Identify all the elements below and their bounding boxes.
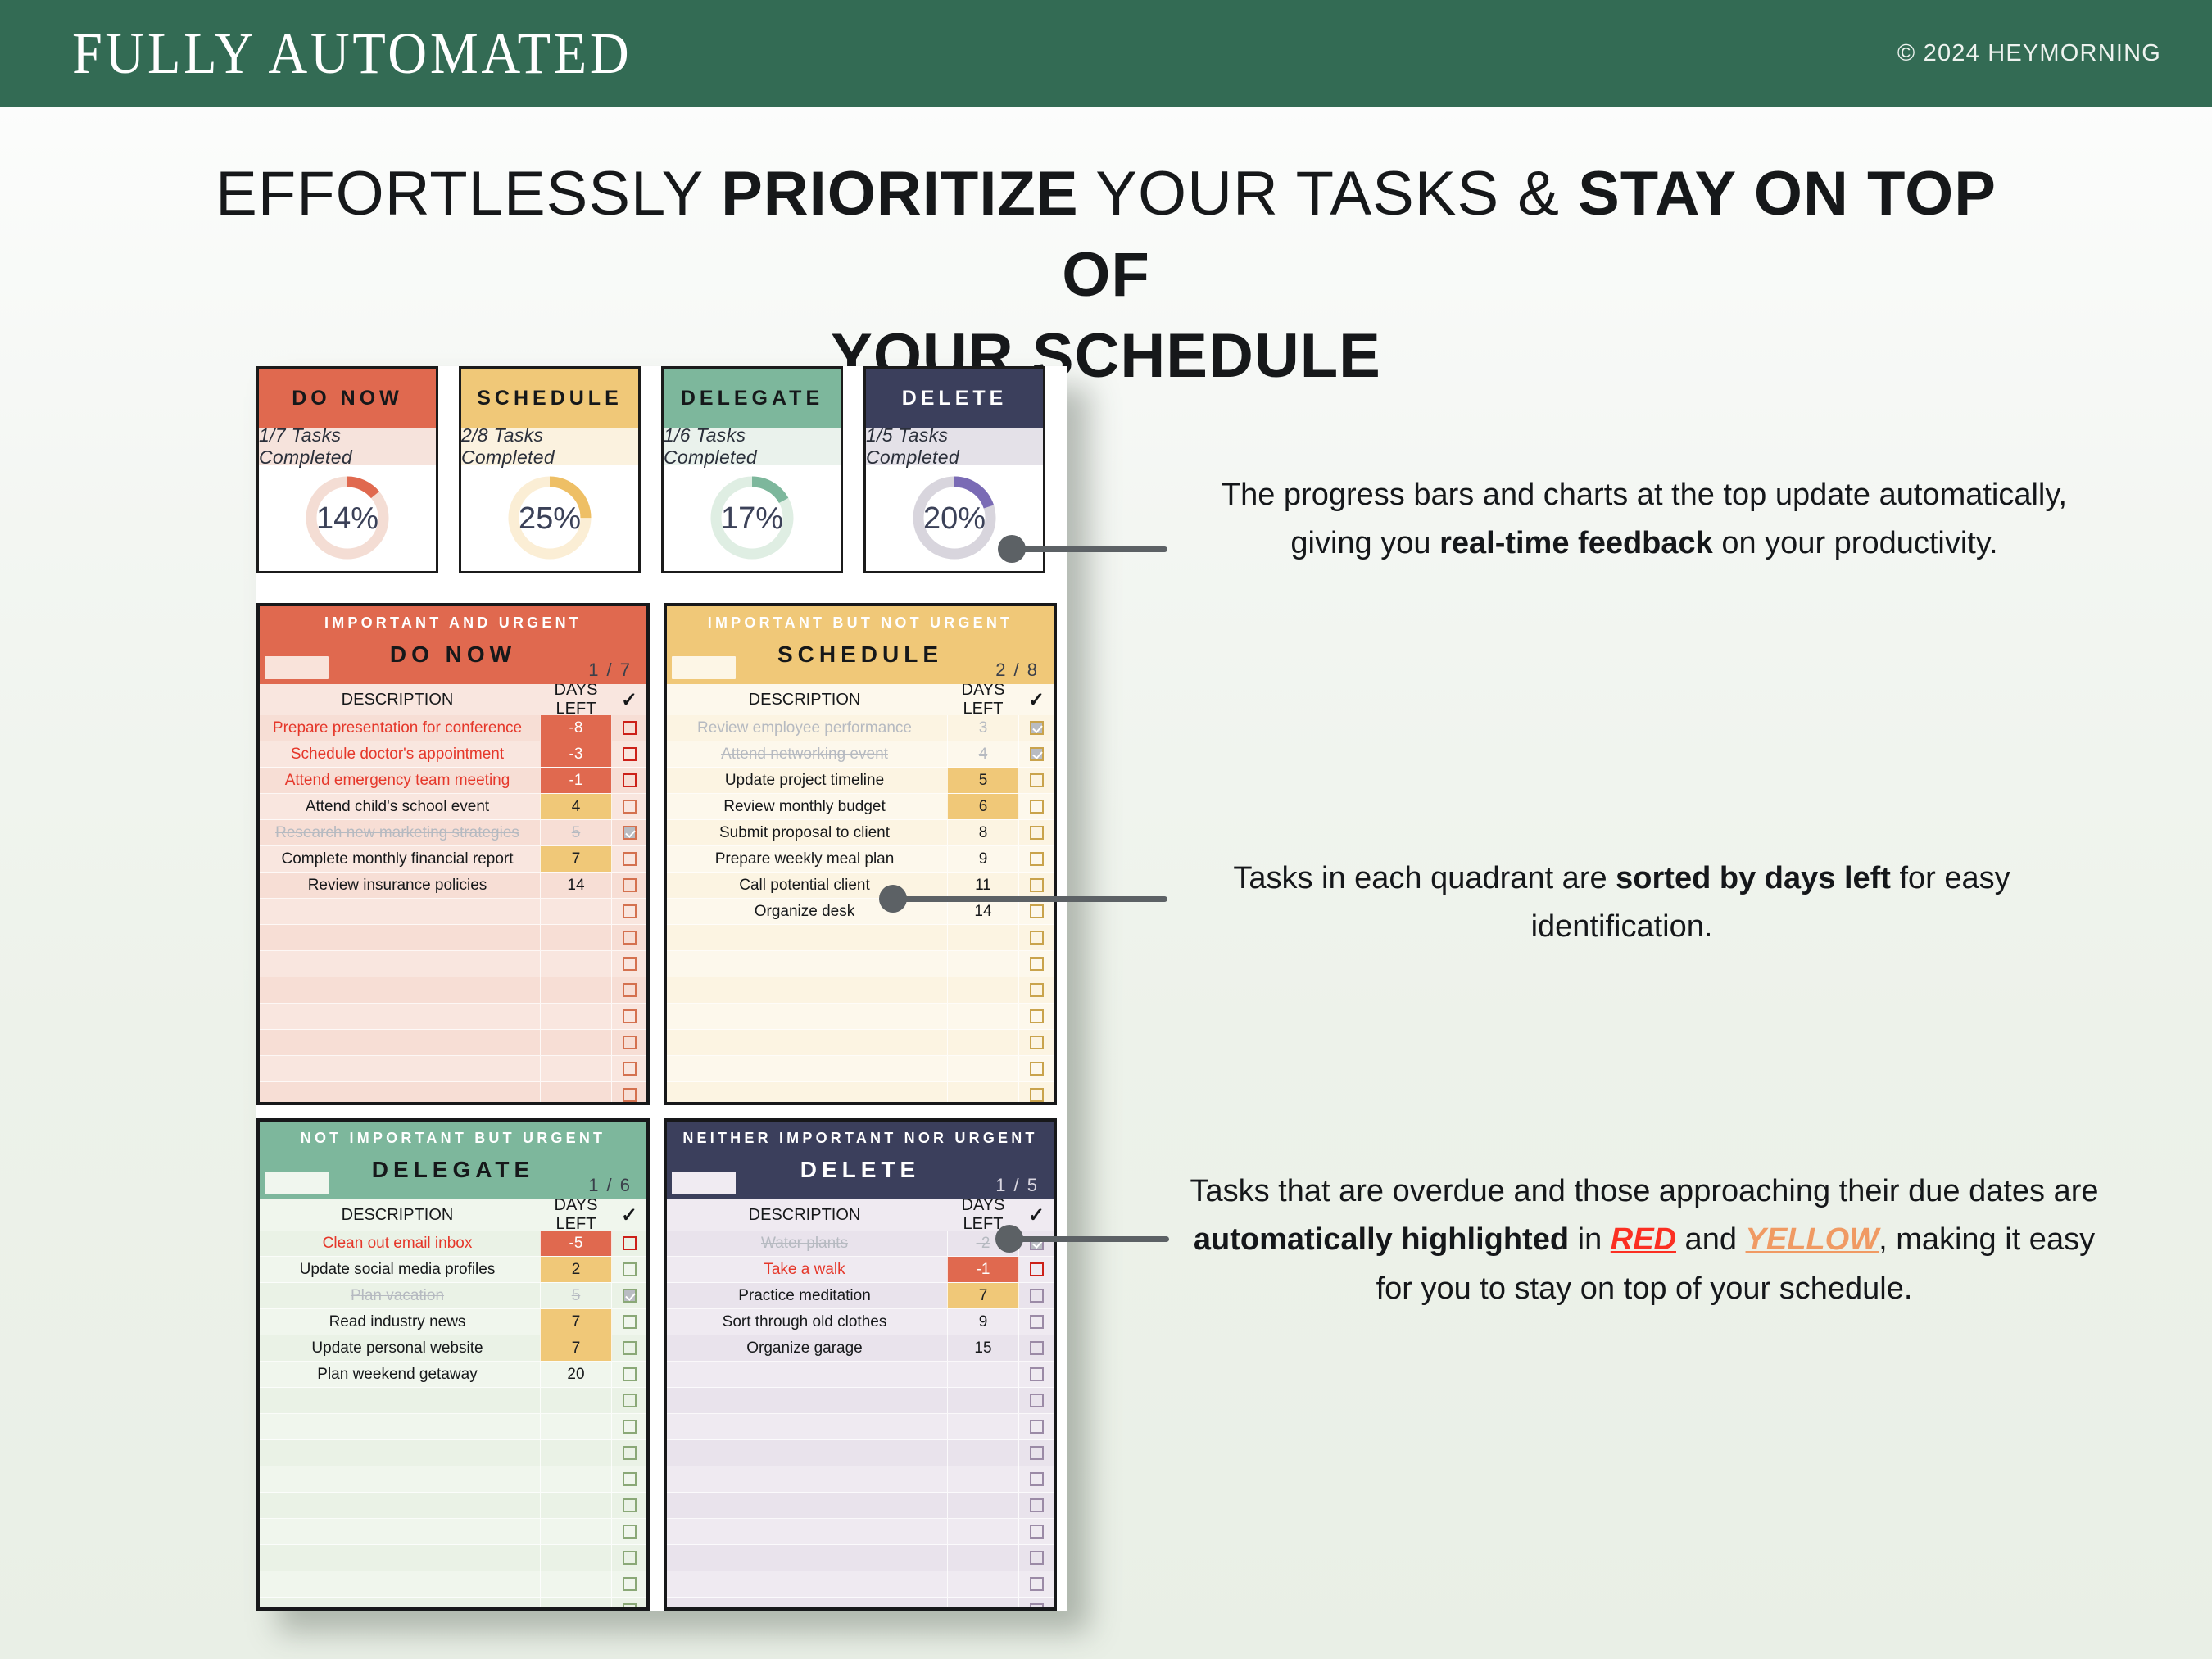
task-checkbox[interactable]: [1030, 1394, 1044, 1407]
task-description[interactable]: [260, 925, 540, 950]
task-description[interactable]: [667, 1004, 947, 1029]
task-checkbox[interactable]: [623, 983, 637, 997]
table-row[interactable]: [260, 1004, 646, 1030]
task-checkbox[interactable]: [1030, 983, 1044, 997]
table-row[interactable]: Review employee performance3: [667, 715, 1054, 741]
task-checkbox[interactable]: [1030, 1525, 1044, 1539]
task-description[interactable]: [667, 1545, 947, 1571]
task-description[interactable]: Prepare weekly meal plan: [667, 846, 947, 872]
task-checkbox-cell[interactable]: [1019, 1493, 1054, 1518]
table-row[interactable]: Attend child's school event4: [260, 794, 646, 820]
table-row[interactable]: Call potential client11: [667, 873, 1054, 899]
table-row[interactable]: [260, 925, 646, 951]
task-description[interactable]: Organize garage: [667, 1335, 947, 1361]
task-checkbox-cell[interactable]: [1019, 1414, 1054, 1439]
table-row[interactable]: [260, 899, 646, 925]
task-days-left[interactable]: [947, 1545, 1019, 1571]
task-checkbox-cell[interactable]: [1019, 1598, 1054, 1611]
task-days-left[interactable]: [947, 1082, 1019, 1105]
task-days-left[interactable]: 11: [947, 873, 1019, 898]
task-description[interactable]: Attend child's school event: [260, 794, 540, 819]
table-row[interactable]: [260, 1598, 646, 1611]
task-checkbox-cell[interactable]: [1019, 925, 1054, 950]
task-checkbox[interactable]: [623, 1367, 637, 1381]
task-description[interactable]: Update personal website: [260, 1335, 540, 1361]
table-row[interactable]: Plan vacation5: [260, 1283, 646, 1309]
task-checkbox[interactable]: [1030, 747, 1044, 761]
task-checkbox[interactable]: [623, 1577, 637, 1591]
table-row[interactable]: [260, 1082, 646, 1105]
task-days-left[interactable]: [540, 1388, 612, 1413]
task-checkbox[interactable]: [1030, 1062, 1044, 1076]
task-days-left[interactable]: [540, 1493, 612, 1518]
task-checkbox[interactable]: [1030, 1009, 1044, 1023]
task-checkbox-cell[interactable]: [1019, 873, 1054, 898]
task-checkbox-cell[interactable]: [612, 1362, 646, 1387]
task-checkbox[interactable]: [623, 1420, 637, 1434]
task-checkbox[interactable]: [1030, 1341, 1044, 1355]
summary-card-title: DELETE: [866, 369, 1043, 428]
task-checkbox[interactable]: [623, 904, 637, 918]
task-checkbox[interactable]: [623, 1394, 637, 1407]
table-row[interactable]: [260, 977, 646, 1004]
table-row[interactable]: [260, 1388, 646, 1414]
task-checkbox-cell[interactable]: [612, 715, 646, 741]
table-row[interactable]: Plan weekend getaway20: [260, 1362, 646, 1388]
task-checkbox[interactable]: [623, 1088, 637, 1102]
task-checkbox-cell[interactable]: [612, 1030, 646, 1055]
table-row[interactable]: Review monthly budget6: [667, 794, 1054, 820]
task-description[interactable]: [667, 951, 947, 977]
table-row[interactable]: Update project timeline5: [667, 768, 1054, 794]
task-days-left[interactable]: [540, 951, 612, 977]
task-checkbox[interactable]: [623, 747, 637, 761]
task-checkbox[interactable]: [623, 1009, 637, 1023]
table-row[interactable]: Complete monthly financial report7: [260, 846, 646, 873]
task-checkbox[interactable]: [1030, 904, 1044, 918]
task-days-left[interactable]: [947, 1030, 1019, 1055]
table-row[interactable]: Prepare presentation for conference-8: [260, 715, 646, 741]
task-description[interactable]: [260, 1056, 540, 1081]
task-days-left[interactable]: [947, 1440, 1019, 1466]
task-checkbox[interactable]: [1030, 773, 1044, 787]
task-days-left[interactable]: 8: [947, 820, 1019, 845]
task-description[interactable]: [667, 1519, 947, 1544]
task-description[interactable]: Prepare presentation for conference: [260, 715, 540, 741]
task-description[interactable]: Schedule doctor's appointment: [260, 741, 540, 767]
table-row[interactable]: [667, 951, 1054, 977]
task-checkbox[interactable]: [623, 1525, 637, 1539]
task-checkbox-cell[interactable]: [1019, 768, 1054, 793]
task-checkbox[interactable]: [623, 931, 637, 945]
task-checkbox-cell[interactable]: [1019, 951, 1054, 977]
task-checkbox-cell[interactable]: [1019, 1335, 1054, 1361]
task-description[interactable]: Plan weekend getaway: [260, 1362, 540, 1387]
task-days-left[interactable]: [540, 1440, 612, 1466]
task-description[interactable]: Clean out email inbox: [260, 1231, 540, 1256]
table-row[interactable]: [667, 1466, 1054, 1493]
task-description[interactable]: [667, 925, 947, 950]
task-days-left[interactable]: -5: [540, 1231, 612, 1256]
task-description[interactable]: Read industry news: [260, 1309, 540, 1335]
task-checkbox-cell[interactable]: [612, 1388, 646, 1413]
task-checkbox-cell[interactable]: [612, 1440, 646, 1466]
task-checkbox-cell[interactable]: [612, 1545, 646, 1571]
table-row[interactable]: [667, 1362, 1054, 1388]
task-checkbox-cell[interactable]: [612, 1056, 646, 1081]
table-row[interactable]: Research new marketing strategies5: [260, 820, 646, 846]
table-row[interactable]: Organize desk14: [667, 899, 1054, 925]
task-checkbox[interactable]: [1030, 1315, 1044, 1329]
task-days-left[interactable]: [947, 1598, 1019, 1611]
task-checkbox[interactable]: [1030, 957, 1044, 971]
task-description[interactable]: [667, 1082, 947, 1105]
table-row[interactable]: Sort through old clothes9: [667, 1309, 1054, 1335]
task-description[interactable]: [667, 1466, 947, 1492]
task-checkbox[interactable]: [1030, 1036, 1044, 1049]
table-row[interactable]: [260, 1030, 646, 1056]
task-checkbox-cell[interactable]: [1019, 1440, 1054, 1466]
task-checkbox-cell[interactable]: [1019, 1545, 1054, 1571]
task-description[interactable]: [260, 951, 540, 977]
table-row[interactable]: [260, 1414, 646, 1440]
table-row[interactable]: Attend emergency team meeting-1: [260, 768, 646, 794]
task-checkbox[interactable]: [1030, 1498, 1044, 1512]
table-row[interactable]: [260, 1493, 646, 1519]
task-days-left[interactable]: [540, 1466, 612, 1492]
task-checkbox-cell[interactable]: [612, 1519, 646, 1544]
task-checkbox-cell[interactable]: [1019, 1309, 1054, 1335]
task-checkbox-cell[interactable]: [612, 1004, 646, 1029]
task-days-left[interactable]: [947, 977, 1019, 1003]
task-days-left[interactable]: [540, 1519, 612, 1544]
task-description[interactable]: [667, 1056, 947, 1081]
task-checkbox-cell[interactable]: [1019, 1257, 1054, 1282]
table-row[interactable]: Prepare weekly meal plan9: [667, 846, 1054, 873]
task-description[interactable]: [667, 1571, 947, 1597]
task-checkbox[interactable]: [623, 1036, 637, 1049]
task-days-left[interactable]: 5: [540, 820, 612, 845]
table-row[interactable]: Practice meditation7: [667, 1283, 1054, 1309]
task-description[interactable]: [260, 1493, 540, 1518]
task-checkbox[interactable]: [623, 957, 637, 971]
task-checkbox-cell[interactable]: [1019, 1082, 1054, 1105]
task-days-left[interactable]: 9: [947, 846, 1019, 872]
task-checkbox[interactable]: [623, 1551, 637, 1565]
task-description[interactable]: [260, 1571, 540, 1597]
task-description[interactable]: [667, 1414, 947, 1439]
task-days-left[interactable]: 20: [540, 1362, 612, 1387]
task-checkbox-cell[interactable]: [612, 768, 646, 793]
task-days-left[interactable]: [540, 1545, 612, 1571]
task-checkbox-cell[interactable]: [612, 899, 646, 924]
task-days-left[interactable]: [540, 1414, 612, 1439]
task-description[interactable]: [667, 1598, 947, 1611]
table-row[interactable]: Review insurance policies14: [260, 873, 646, 899]
task-description[interactable]: Practice meditation: [667, 1283, 947, 1308]
task-days-left[interactable]: 2: [540, 1257, 612, 1282]
task-checkbox[interactable]: [623, 1341, 637, 1355]
task-days-left[interactable]: [947, 1571, 1019, 1597]
task-checkbox[interactable]: [623, 1062, 637, 1076]
task-days-left[interactable]: [947, 1056, 1019, 1081]
task-checkbox-cell[interactable]: [1019, 846, 1054, 872]
table-row[interactable]: Update social media profiles2: [260, 1257, 646, 1283]
table-row[interactable]: [260, 1466, 646, 1493]
task-description[interactable]: [667, 977, 947, 1003]
task-checkbox-cell[interactable]: [612, 925, 646, 950]
task-checkbox[interactable]: [623, 1289, 637, 1303]
task-checkbox-cell[interactable]: [612, 1598, 646, 1611]
task-description[interactable]: Water plants: [667, 1231, 947, 1256]
task-checkbox-cell[interactable]: [612, 1466, 646, 1492]
task-checkbox[interactable]: [1030, 852, 1044, 866]
task-days-left[interactable]: [540, 977, 612, 1003]
summary-card-completed-label: 1/7 Tasks Completed: [259, 428, 436, 465]
task-checkbox-cell[interactable]: [612, 820, 646, 845]
table-row[interactable]: [260, 1056, 646, 1082]
task-days-left[interactable]: 7: [540, 1309, 612, 1335]
task-checkbox[interactable]: [623, 773, 637, 787]
task-description[interactable]: [260, 1004, 540, 1029]
task-checkbox-cell[interactable]: [612, 1082, 646, 1105]
summary-card-schedule[interactable]: SCHEDULE2/8 Tasks Completed25%: [459, 366, 641, 573]
task-description[interactable]: Attend networking event: [667, 741, 947, 767]
summary-card-delegate[interactable]: DELEGATE1/6 Tasks Completed17%: [661, 366, 843, 573]
task-description[interactable]: Submit proposal to client: [667, 820, 947, 845]
task-description[interactable]: [667, 1440, 947, 1466]
task-days-left[interactable]: -8: [540, 715, 612, 741]
task-checkbox[interactable]: [623, 1262, 637, 1276]
task-days-left[interactable]: 7: [947, 1283, 1019, 1308]
task-description[interactable]: [260, 977, 540, 1003]
table-row[interactable]: Take a walk-1: [667, 1257, 1054, 1283]
task-checkbox-cell[interactable]: [1019, 1231, 1054, 1256]
task-days-left[interactable]: [540, 1598, 612, 1611]
table-row[interactable]: Organize garage15: [667, 1335, 1054, 1362]
task-days-left[interactable]: [947, 1004, 1019, 1029]
task-checkbox-cell[interactable]: [1019, 741, 1054, 767]
task-checkbox-cell[interactable]: [1019, 1362, 1054, 1387]
task-checkbox-cell[interactable]: [1019, 1571, 1054, 1597]
table-row[interactable]: [667, 1440, 1054, 1466]
task-checkbox[interactable]: [623, 721, 637, 735]
task-checkbox-cell[interactable]: [612, 1231, 646, 1256]
task-description[interactable]: [260, 1414, 540, 1439]
task-days-left[interactable]: 4: [540, 794, 612, 819]
task-checkbox-cell[interactable]: [612, 1283, 646, 1308]
task-checkbox[interactable]: [623, 1498, 637, 1512]
table-row[interactable]: [667, 1388, 1054, 1414]
task-description[interactable]: [260, 1440, 540, 1466]
task-checkbox-cell[interactable]: [612, 1309, 646, 1335]
task-checkbox[interactable]: [623, 852, 637, 866]
task-days-left[interactable]: -1: [540, 768, 612, 793]
task-days-left[interactable]: 5: [947, 768, 1019, 793]
task-checkbox[interactable]: [623, 1236, 637, 1250]
task-checkbox[interactable]: [1030, 1262, 1044, 1276]
task-description[interactable]: [260, 1519, 540, 1544]
task-description[interactable]: Research new marketing strategies: [260, 820, 540, 845]
table-row[interactable]: [260, 951, 646, 977]
task-checkbox-cell[interactable]: [1019, 1004, 1054, 1029]
task-description[interactable]: Review employee performance: [667, 715, 947, 741]
task-days-left[interactable]: [947, 1388, 1019, 1413]
table-row[interactable]: [667, 1598, 1054, 1611]
table-row[interactable]: [667, 977, 1054, 1004]
task-checkbox-cell[interactable]: [612, 873, 646, 898]
table-row[interactable]: [667, 1056, 1054, 1082]
task-checkbox-cell[interactable]: [1019, 1030, 1054, 1055]
table-row[interactable]: [667, 1545, 1054, 1571]
task-checkbox-cell[interactable]: [1019, 899, 1054, 924]
task-days-left[interactable]: [540, 1082, 612, 1105]
task-checkbox[interactable]: [1030, 826, 1044, 840]
task-checkbox[interactable]: [1030, 721, 1044, 735]
task-checkbox-cell[interactable]: [612, 1571, 646, 1597]
task-days-left[interactable]: 9: [947, 1309, 1019, 1335]
task-days-left[interactable]: 6: [947, 794, 1019, 819]
task-description[interactable]: [667, 1030, 947, 1055]
task-days-left[interactable]: [540, 1056, 612, 1081]
task-days-left[interactable]: [947, 1493, 1019, 1518]
task-days-left[interactable]: [947, 1519, 1019, 1544]
table-row[interactable]: [667, 1571, 1054, 1598]
task-checkbox[interactable]: [1030, 931, 1044, 945]
task-days-left[interactable]: 15: [947, 1335, 1019, 1361]
table-row[interactable]: Attend networking event4: [667, 741, 1054, 768]
task-days-left[interactable]: 14: [540, 873, 612, 898]
task-checkbox[interactable]: [1030, 1577, 1044, 1591]
table-row[interactable]: [667, 1030, 1054, 1056]
task-days-left[interactable]: [540, 899, 612, 924]
task-checkbox-cell[interactable]: [612, 794, 646, 819]
task-checkbox-cell[interactable]: [1019, 1056, 1054, 1081]
task-days-left[interactable]: -3: [540, 741, 612, 767]
task-checkbox[interactable]: [1030, 1446, 1044, 1460]
task-checkbox-cell[interactable]: [612, 977, 646, 1003]
task-description[interactable]: Update social media profiles: [260, 1257, 540, 1282]
task-description[interactable]: [260, 1466, 540, 1492]
task-days-left[interactable]: 7: [540, 846, 612, 872]
task-days-left[interactable]: [540, 925, 612, 950]
task-days-left[interactable]: [540, 1571, 612, 1597]
task-days-left[interactable]: 5: [540, 1283, 612, 1308]
task-checkbox[interactable]: [1030, 1603, 1044, 1611]
task-checkbox-cell[interactable]: [1019, 715, 1054, 741]
task-checkbox[interactable]: [623, 1446, 637, 1460]
table-row[interactable]: Schedule doctor's appointment-3: [260, 741, 646, 768]
task-checkbox-cell[interactable]: [612, 1257, 646, 1282]
summary-card-do-now[interactable]: DO NOW1/7 Tasks Completed14%: [256, 366, 438, 573]
task-days-left[interactable]: 4: [947, 741, 1019, 767]
task-checkbox[interactable]: [1030, 1289, 1044, 1303]
task-description[interactable]: Plan vacation: [260, 1283, 540, 1308]
task-description[interactable]: Take a walk: [667, 1257, 947, 1282]
table-row[interactable]: [667, 1519, 1054, 1545]
task-description[interactable]: [667, 1362, 947, 1387]
task-checkbox-cell[interactable]: [612, 1335, 646, 1361]
table-row[interactable]: [260, 1440, 646, 1466]
task-checkbox-cell[interactable]: [612, 1493, 646, 1518]
task-description[interactable]: [260, 1545, 540, 1571]
task-description[interactable]: Review insurance policies: [260, 873, 540, 898]
task-description[interactable]: Review monthly budget: [667, 794, 947, 819]
task-checkbox[interactable]: [1030, 1420, 1044, 1434]
task-checkbox[interactable]: [1030, 1551, 1044, 1565]
task-description[interactable]: Update project timeline: [667, 768, 947, 793]
task-description[interactable]: [667, 1493, 947, 1518]
task-checkbox[interactable]: [1030, 1088, 1044, 1102]
table-row[interactable]: Submit proposal to client8: [667, 820, 1054, 846]
table-row[interactable]: Read industry news7: [260, 1309, 646, 1335]
task-days-left[interactable]: [540, 1004, 612, 1029]
task-checkbox-cell[interactable]: [1019, 794, 1054, 819]
task-checkbox[interactable]: [623, 800, 637, 814]
table-row[interactable]: [667, 1493, 1054, 1519]
task-description[interactable]: [260, 899, 540, 924]
task-checkbox-cell[interactable]: [612, 846, 646, 872]
task-checkbox-cell[interactable]: [612, 1414, 646, 1439]
task-days-left[interactable]: [540, 1030, 612, 1055]
task-description[interactable]: [260, 1388, 540, 1413]
table-row[interactable]: [667, 1414, 1054, 1440]
task-description[interactable]: [260, 1082, 540, 1105]
table-row[interactable]: [260, 1571, 646, 1598]
task-checkbox[interactable]: [1030, 800, 1044, 814]
task-description[interactable]: [667, 1388, 947, 1413]
task-checkbox-cell[interactable]: [1019, 1283, 1054, 1308]
task-description[interactable]: Complete monthly financial report: [260, 846, 540, 872]
task-checkbox[interactable]: [623, 1472, 637, 1486]
task-days-left[interactable]: 3: [947, 715, 1019, 741]
task-checkbox[interactable]: [623, 878, 637, 892]
task-checkbox-cell[interactable]: [612, 951, 646, 977]
task-description[interactable]: Sort through old clothes: [667, 1309, 947, 1335]
task-days-left[interactable]: 14: [947, 899, 1019, 924]
task-description[interactable]: Attend emergency team meeting: [260, 768, 540, 793]
task-checkbox-cell[interactable]: [1019, 1466, 1054, 1492]
task-days-left[interactable]: [947, 1414, 1019, 1439]
task-checkbox[interactable]: [1030, 1472, 1044, 1486]
task-description[interactable]: [260, 1598, 540, 1611]
table-row[interactable]: [667, 1004, 1054, 1030]
task-checkbox[interactable]: [1030, 878, 1044, 892]
task-days-left[interactable]: [947, 1466, 1019, 1492]
task-days-left[interactable]: 7: [540, 1335, 612, 1361]
task-checkbox-cell[interactable]: [1019, 820, 1054, 845]
task-checkbox-cell[interactable]: [1019, 1519, 1054, 1544]
task-description[interactable]: [260, 1030, 540, 1055]
task-days-left[interactable]: [947, 1362, 1019, 1387]
task-checkbox-cell[interactable]: [612, 741, 646, 767]
table-row[interactable]: [667, 925, 1054, 951]
task-checkbox[interactable]: [623, 1603, 637, 1611]
task-days-left[interactable]: [947, 925, 1019, 950]
task-checkbox-cell[interactable]: [1019, 977, 1054, 1003]
table-row[interactable]: [667, 1082, 1054, 1105]
task-checkbox-cell[interactable]: [1019, 1388, 1054, 1413]
table-row[interactable]: [260, 1519, 646, 1545]
task-checkbox[interactable]: [623, 826, 637, 840]
task-checkbox[interactable]: [623, 1315, 637, 1329]
task-checkbox[interactable]: [1030, 1367, 1044, 1381]
task-days-left[interactable]: -1: [947, 1257, 1019, 1282]
table-row[interactable]: Clean out email inbox-5: [260, 1231, 646, 1257]
task-days-left[interactable]: [947, 951, 1019, 977]
table-row[interactable]: [260, 1545, 646, 1571]
table-row[interactable]: Update personal website7: [260, 1335, 646, 1362]
